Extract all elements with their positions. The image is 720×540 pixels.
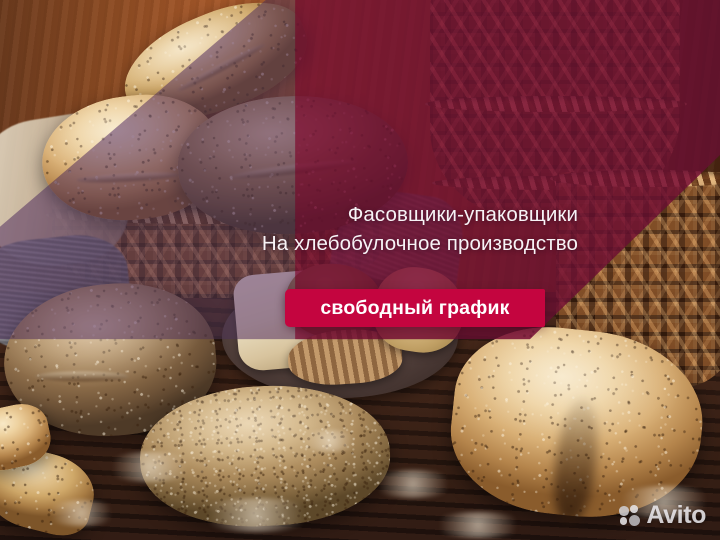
headline-block: Фасовщики-упаковщики На хлебобулочное пр… [262,205,578,254]
flour-dust [370,470,456,498]
flour-dust [300,430,360,452]
avito-watermark: Avito [619,503,706,528]
headline-line-1: Фасовщики-упаковщики [262,205,578,226]
flour-dust [104,452,196,482]
avito-dot-3 [620,517,628,525]
flour-dust [430,512,526,538]
headline-line-2: На хлебобулочное производство [262,234,578,255]
flour-dust [196,498,316,532]
schedule-badge: свободный график [285,289,545,327]
avito-dot-2 [630,505,638,513]
avito-dots-icon [619,505,640,526]
avito-brand-name: Avito [646,503,706,528]
schedule-badge-label: свободный график [320,297,509,320]
avito-dot-1 [619,506,629,516]
flour-dust [44,500,118,526]
job-ad-banner: Фасовщики-упаковщики На хлебобулочное пр… [0,0,720,540]
avito-dot-4 [629,515,640,526]
